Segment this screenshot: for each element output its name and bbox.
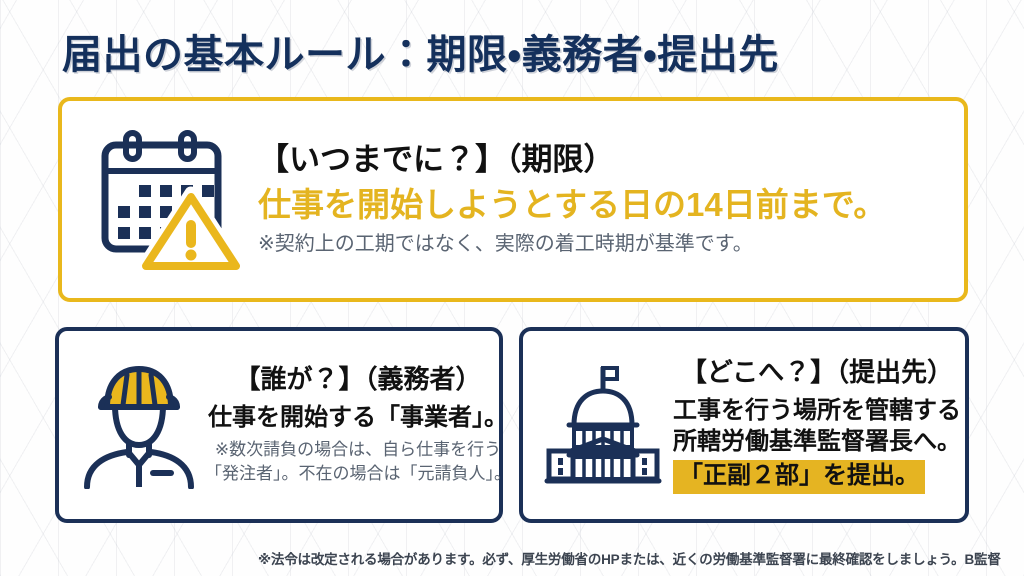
deadline-text-block: 【いつまでに？】（期限） 仕事を開始しようとする日の14日前まで。 ※契約上の工… xyxy=(252,141,964,258)
calendar-warning-icon xyxy=(84,120,252,280)
who-note-line1: ※数次請負の場合は、自ら仕事を行う xyxy=(205,438,511,463)
deadline-headline: 仕事を開始しようとする日の14日前まで。 xyxy=(252,184,964,227)
who-note-line2: 「発注者」。不在の場合は「元請負人」。 xyxy=(205,462,511,487)
page-title: 届出の基本ルール：期限・義務者・提出先 xyxy=(62,22,779,80)
card-where: 【どこへ？】（提出先） 工事を行う場所を管轄する 所轄労働基準監督署長へ。 「正… xyxy=(519,327,969,523)
card-who: 【誰が？】（義務者） 仕事を開始する「事業者」。 ※数次請負の場合は、自ら仕事を… xyxy=(55,327,503,523)
who-subtext: 仕事を開始する「事業者」。 xyxy=(205,402,511,433)
footer-disclaimer: ※法令は改定される場合があります。必ず、厚生労働省のHPまたは、近くの労働基準監… xyxy=(258,548,1001,568)
government-building-icon xyxy=(537,355,669,495)
who-heading: 【誰が？】（義務者） xyxy=(205,363,511,396)
where-text-block: 【どこへ？】（提出先） 工事を行う場所を管轄する 所轄労働基準監督署長へ。 「正… xyxy=(669,356,965,494)
card-deadline: 【いつまでに？】（期限） 仕事を開始しようとする日の14日前まで。 ※契約上の工… xyxy=(58,97,968,302)
who-text-block: 【誰が？】（義務者） 仕事を開始する「事業者」。 ※数次請負の場合は、自ら仕事を… xyxy=(205,363,511,487)
where-highlight-badge: 「正副２部」を提出。 xyxy=(673,460,925,494)
where-heading: 【どこへ？】（提出先） xyxy=(669,356,965,389)
where-subtext-line1: 工事を行う場所を管轄する xyxy=(669,395,965,426)
construction-worker-icon xyxy=(73,355,205,495)
deadline-heading: 【いつまでに？】（期限） xyxy=(252,141,964,180)
deadline-note: ※契約上の工期ではなく、実際の着工時期が基準です。 xyxy=(252,231,964,258)
slide-root: 届出の基本ルール：期限・義務者・提出先 xyxy=(0,0,1024,576)
where-subtext-line2: 所轄労働基準監督署長へ。 xyxy=(669,426,965,457)
